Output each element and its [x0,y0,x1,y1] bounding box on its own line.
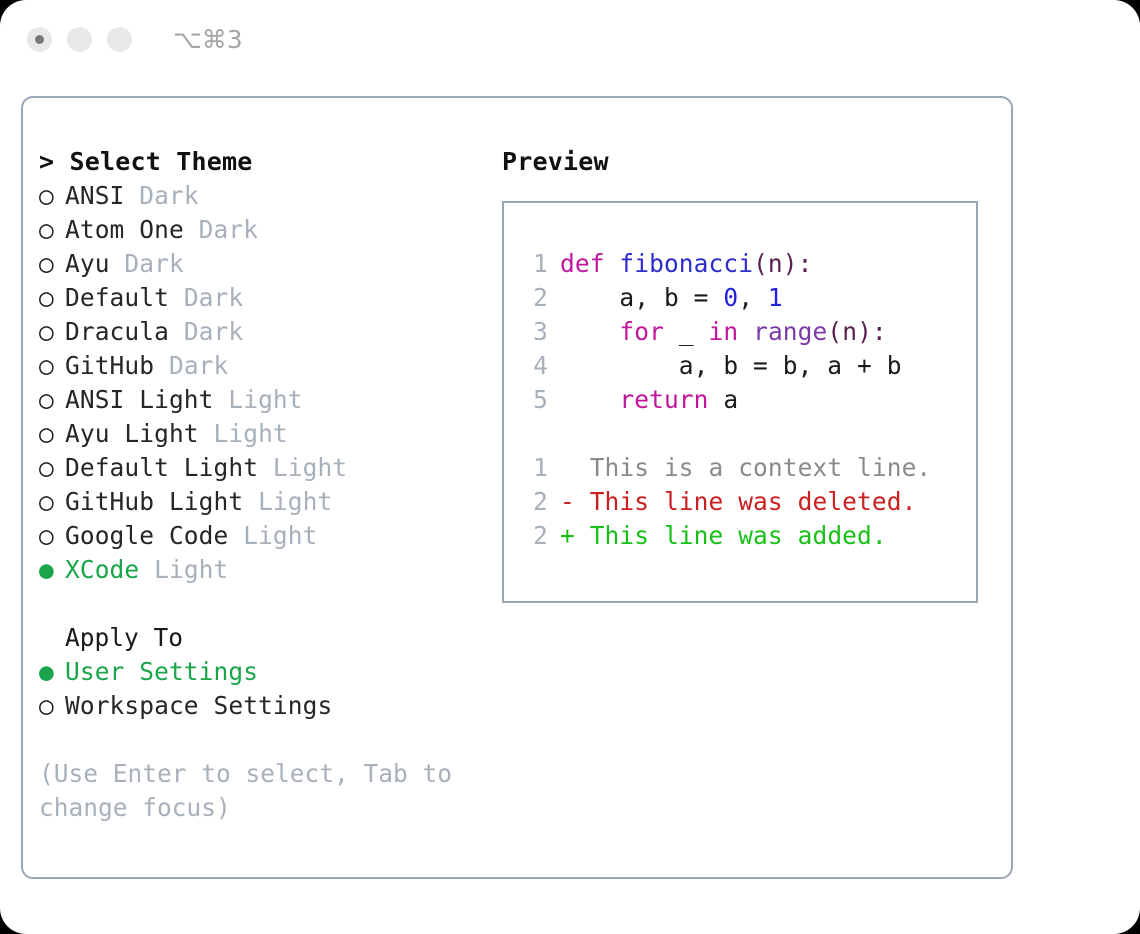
code-token-plain [560,317,619,346]
code-token-built: range [753,317,827,346]
code-line: 3 for _ in range(n): [518,315,976,349]
theme-option-default[interactable]: ○Default Dark [39,281,489,315]
radio-unselected-icon: ○ [39,485,65,519]
apply-to-option-label: User Settings [65,657,258,686]
theme-option-label: ANSI [65,181,124,210]
syntax-sample-lines: 1def fibonacci(n):2 a, b = 0, 13 for _ i… [518,247,976,417]
code-line: 2 a, b = 0, 1 [518,281,976,315]
apply-to-option-list: ●User Settings○Workspace Settings [39,655,489,723]
theme-option-label: Ayu Light [65,419,199,448]
traffic-light-active-dot [35,35,44,44]
traffic-light-minimize[interactable] [67,27,92,52]
radio-unselected-icon: ○ [39,281,65,315]
code-token-plain [560,385,619,414]
theme-variant-badge: Light [214,419,288,448]
apply-to-option-workspace-settings[interactable]: ○Workspace Settings [39,689,489,723]
radio-selected-icon: ● [39,655,65,689]
theme-option-label: Ayu [65,249,110,278]
preview-header: Preview [502,145,992,179]
theme-option-label: Default [65,283,169,312]
app-window: ⌥⌘3 > Select Theme ○ANSI Dark○Atom One D… [0,0,1140,934]
theme-option-ayu-light[interactable]: ○Ayu Light Light [39,417,489,451]
theme-variant-badge: Light [154,555,228,584]
theme-variant-badge: Dark [184,317,243,346]
code-token-kw: in [709,317,739,346]
code-token-kw: for [619,317,664,346]
radio-unselected-icon: ○ [39,349,65,383]
code-line: 4 a, b = b, a + b [518,349,976,383]
traffic-light-maximize[interactable] [107,27,132,52]
radio-selected-icon: ● [39,553,65,587]
theme-selector-column: > Select Theme ○ANSI Dark○Atom One Dark○… [39,145,489,825]
theme-option-label: GitHub [65,351,154,380]
line-number: 1 [518,451,548,485]
theme-option-ansi[interactable]: ○ANSI Dark [39,179,489,213]
theme-option-ayu[interactable]: ○Ayu Dark [39,247,489,281]
keyboard-hint-text: (Use Enter to select, Tab to change focu… [39,757,459,825]
theme-option-label: Google Code [65,521,228,550]
code-token-punct: ): [783,249,813,278]
radio-unselected-icon: ○ [39,451,65,485]
radio-unselected-icon: ○ [39,519,65,553]
code-token-num: 1 [768,283,783,312]
theme-option-default-light[interactable]: ○Default Light Light [39,451,489,485]
window-titlebar: ⌥⌘3 [0,0,1140,78]
code-token-fn: fibonacci [619,249,753,278]
code-token-punct: ( [753,249,768,278]
diff-sign: - [560,487,575,516]
radio-unselected-icon: ○ [39,383,65,417]
theme-variant-badge: Light [273,453,347,482]
diff-line-add: 2+ This line was added. [518,519,976,553]
line-number: 3 [518,315,548,349]
theme-variant-badge: Light [228,385,302,414]
theme-variant-badge: Dark [184,283,243,312]
diff-text: This is a context line. [575,453,931,482]
theme-option-atom-one[interactable]: ○Atom One Dark [39,213,489,247]
diff-text: This line was added. [575,521,887,550]
theme-variant-badge: Dark [199,215,258,244]
radio-unselected-icon: ○ [39,315,65,349]
code-token-plain: , [738,283,768,312]
code-token-plain: a, b = b, a + b [560,351,902,380]
apply-to-section: Apply To ●User Settings○Workspace Settin… [39,621,489,723]
apply-to-header: Apply To [39,621,489,655]
theme-option-label: GitHub Light [65,487,243,516]
theme-variant-badge: Dark [124,249,183,278]
theme-option-github-light[interactable]: ○GitHub Light Light [39,485,489,519]
code-token-plain: _ [664,317,709,346]
code-token-plain: a [709,385,739,414]
theme-option-label: Dracula [65,317,169,346]
select-theme-header: > Select Theme [39,145,489,179]
theme-variant-badge: Dark [169,351,228,380]
line-number: 2 [518,281,548,315]
theme-option-label: XCode [65,555,139,584]
radio-unselected-icon: ○ [39,689,65,723]
main-panel: > Select Theme ○ANSI Dark○Atom One Dark○… [21,96,1013,879]
apply-to-option-label: Workspace Settings [65,691,332,720]
line-number: 5 [518,383,548,417]
theme-variant-badge: Light [243,521,317,550]
theme-option-github[interactable]: ○GitHub Dark [39,349,489,383]
theme-option-google-code[interactable]: ○Google Code Light [39,519,489,553]
code-token-var: n [768,249,783,278]
radio-unselected-icon: ○ [39,213,65,247]
theme-option-xcode[interactable]: ●XCode Light [39,553,489,587]
preview-gap [518,417,976,451]
code-token-kw: def [560,249,619,278]
code-token-punct: ( [827,317,842,346]
theme-option-dracula[interactable]: ○Dracula Dark [39,315,489,349]
diff-line-del: 2- This line was deleted. [518,485,976,519]
diff-line-ctx: 1 This is a context line. [518,451,976,485]
line-number: 1 [518,247,548,281]
radio-unselected-icon: ○ [39,417,65,451]
code-token-var: n [842,317,857,346]
code-line: 5 return a [518,383,976,417]
line-number: 2 [518,519,548,553]
line-number: 4 [518,349,548,383]
code-token-punct: ): [857,317,887,346]
code-token-num: 0 [723,283,738,312]
line-number: 2 [518,485,548,519]
theme-variant-badge: Light [258,487,332,516]
theme-variant-badge: Dark [139,181,198,210]
apply-to-option-user-settings[interactable]: ●User Settings [39,655,489,689]
theme-option-list: ○ANSI Dark○Atom One Dark○Ayu Dark○Defaul… [39,179,489,587]
code-token-plain [738,317,753,346]
code-line: 1def fibonacci(n): [518,247,976,281]
theme-option-label: Atom One [65,215,184,244]
theme-option-ansi-light[interactable]: ○ANSI Light Light [39,383,489,417]
keyboard-shortcut-label: ⌥⌘3 [173,25,243,54]
code-token-plain: a, b = [560,283,723,312]
radio-unselected-icon: ○ [39,179,65,213]
theme-option-label: ANSI Light [65,385,214,414]
diff-sign: + [560,521,575,550]
diff-sign [560,453,575,482]
radio-unselected-icon: ○ [39,247,65,281]
code-token-kw: return [619,385,708,414]
theme-option-label: Default Light [65,453,258,482]
diff-sample-lines: 1 This is a context line.2- This line wa… [518,451,976,553]
traffic-light-close[interactable] [27,27,52,52]
diff-text: This line was deleted. [575,487,917,516]
preview-column: Preview 1def fibonacci(n):2 a, b = 0, 13… [502,145,992,603]
code-preview-box: 1def fibonacci(n):2 a, b = 0, 13 for _ i… [502,201,978,603]
